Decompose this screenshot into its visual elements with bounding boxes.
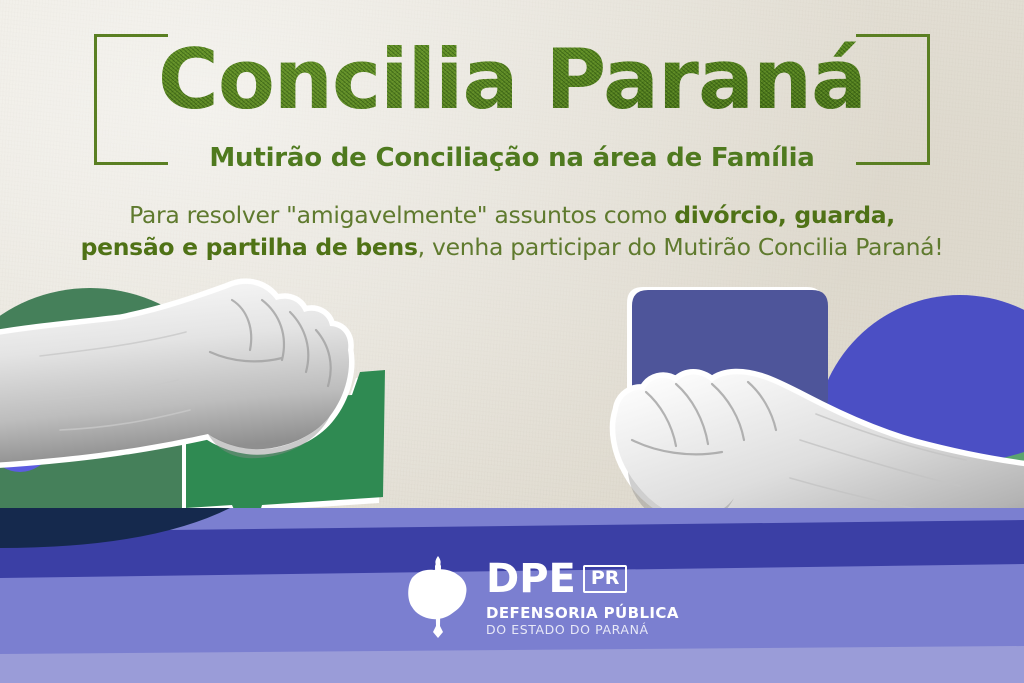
logo-dpe-text: DPE bbox=[486, 559, 576, 599]
dpe-logo: DPE PR DEFENSORIA PÚBLICA DO ESTADO DO P… bbox=[402, 556, 679, 640]
lede-paragraph: Para resolver "amigavelmente" assuntos c… bbox=[80, 200, 944, 263]
logo-line-2: DO ESTADO DO PARANÁ bbox=[486, 624, 679, 637]
lede-part-2: , venha participar do Mutirão Concilia P… bbox=[418, 233, 944, 261]
parana-scales-of-justice-icon bbox=[402, 556, 474, 640]
page-subtitle: Mutirão de Conciliação na área de Famíli… bbox=[0, 143, 1024, 173]
poster-canvas: Concilia Paraná Mutirão de Conciliação n… bbox=[0, 0, 1024, 683]
logo-line-1: DEFENSORIA PÚBLICA bbox=[486, 606, 679, 621]
page-title: Concilia Paraná bbox=[0, 38, 1024, 121]
logo-pr-badge: PR bbox=[583, 565, 628, 593]
lede-part-1: Para resolver "amigavelmente" assuntos c… bbox=[129, 201, 674, 229]
